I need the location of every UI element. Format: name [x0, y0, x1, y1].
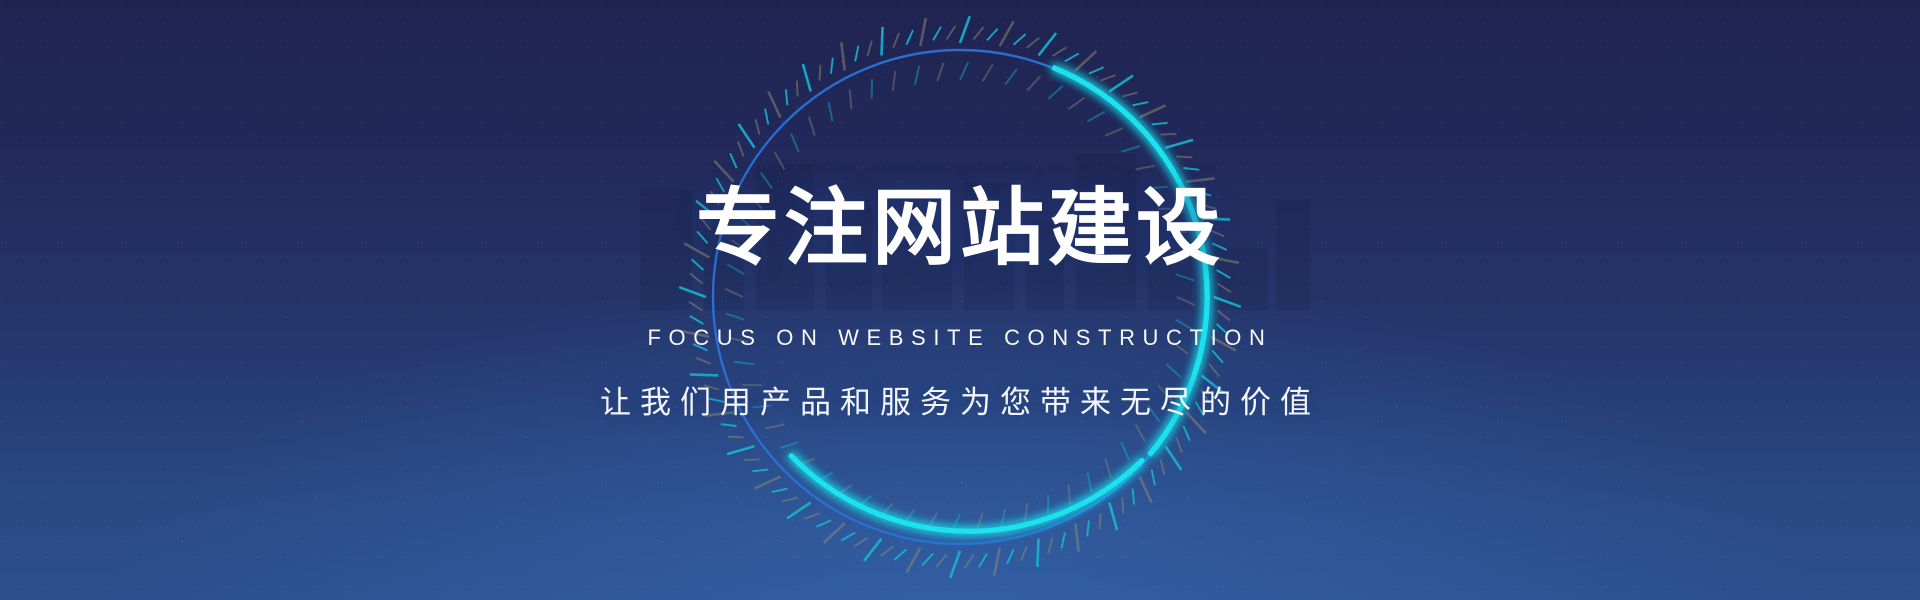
radial-tick-inner — [850, 90, 852, 110]
radial-tick — [1133, 489, 1135, 505]
hero-banner: 专注网站建设 FOCUS ON WEBSITE CONSTRUCTION 让我们… — [0, 0, 1920, 600]
radial-tick — [1218, 284, 1231, 293]
radial-tick — [1140, 477, 1152, 503]
radial-tick — [994, 548, 1000, 576]
radial-tick — [820, 65, 821, 81]
radial-tick-inner — [1048, 86, 1063, 99]
radial-tick-inner — [791, 134, 799, 152]
radial-tick — [960, 16, 970, 43]
radial-tick — [864, 539, 882, 561]
radial-tick — [1161, 134, 1177, 135]
radial-tick-inner — [829, 102, 833, 121]
radial-tick — [1212, 351, 1223, 363]
radial-tick — [1053, 48, 1066, 57]
radial-tick-inner — [1025, 503, 1027, 523]
radial-tick — [1166, 140, 1194, 148]
radial-tick — [841, 42, 844, 70]
radial-tick — [906, 30, 913, 44]
radial-tick — [755, 477, 781, 489]
radial-tick — [936, 555, 946, 567]
radial-tick — [855, 46, 858, 62]
radial-tick — [696, 358, 711, 364]
radial-tick — [1075, 523, 1078, 551]
radial-tick — [933, 27, 941, 41]
radial-tick — [922, 554, 933, 566]
radial-tick-inner — [1177, 297, 1195, 305]
radial-tick — [772, 489, 788, 492]
radial-tick — [727, 446, 755, 454]
radial-tick — [689, 302, 702, 311]
tech-circle-ring — [0, 0, 1920, 600]
radial-tick-inner — [1069, 485, 1071, 505]
radial-tick — [1183, 426, 1189, 441]
radial-tick — [1101, 75, 1116, 81]
tagline: 让我们用产品和服务为您带来无尽的价值 — [0, 377, 1920, 422]
radial-tick — [881, 546, 894, 556]
radial-tick — [979, 554, 987, 568]
radial-tick — [1166, 446, 1182, 470]
radial-tick — [1214, 297, 1241, 307]
radial-tick — [787, 503, 811, 519]
radial-tick — [744, 459, 760, 460]
radial-tick — [920, 18, 926, 46]
radial-tick — [841, 533, 855, 541]
radial-tick — [868, 41, 872, 56]
radial-tick-inner — [1005, 69, 1017, 85]
radial-tick — [947, 26, 956, 39]
radial-tick-inner — [1136, 166, 1155, 170]
radial-tick — [1152, 123, 1168, 125]
radial-tick-inner — [809, 117, 815, 136]
radial-tick-inner — [775, 152, 785, 169]
radial-tick — [690, 374, 719, 375]
radial-tick — [690, 316, 704, 324]
radial-tick — [782, 498, 797, 502]
radial-tick-inner — [1069, 98, 1085, 109]
radial-tick-inner — [1121, 442, 1129, 460]
radial-tick — [1048, 538, 1052, 553]
radial-tick — [1089, 67, 1104, 73]
radial-tick — [1122, 498, 1123, 514]
radial-tick — [1065, 53, 1079, 61]
radial-tick — [974, 27, 984, 39]
radial-tick-inner — [915, 66, 919, 85]
radial-tick-inner — [765, 425, 784, 429]
radial-tick — [831, 58, 833, 74]
radial-tick — [1021, 546, 1027, 561]
radial-tick — [1039, 33, 1057, 55]
radial-tick — [1100, 513, 1101, 529]
radial-tick — [965, 555, 974, 568]
radial-tick — [786, 89, 788, 105]
radial-tick — [1122, 93, 1137, 97]
page-title: 专注网站建设 — [0, 186, 1920, 270]
radial-tick — [1176, 157, 1192, 158]
radial-tick-inner — [1105, 458, 1111, 477]
radial-tick — [1133, 102, 1149, 105]
cyan-arc-bottom — [791, 456, 1142, 531]
radial-tick — [906, 548, 920, 573]
english-subtitle: FOCUS ON WEBSITE CONSTRUCTION — [0, 325, 1920, 351]
radial-tick-inner — [960, 62, 968, 80]
radial-tick-inner — [1001, 509, 1005, 528]
radial-tick-inner — [983, 64, 993, 81]
radial-tick — [882, 27, 883, 56]
radial-tick — [721, 424, 737, 426]
radial-tick — [1007, 549, 1014, 564]
radial-tick — [894, 549, 906, 560]
radial-tick — [730, 153, 736, 168]
radial-tick-inner — [780, 442, 799, 448]
radial-tick — [797, 81, 798, 97]
radial-tick — [1037, 539, 1038, 568]
radial-tick — [1183, 168, 1199, 170]
radial-tick — [1014, 34, 1026, 45]
radial-tick — [803, 64, 811, 92]
radial-tick — [1027, 38, 1040, 48]
radial-tick — [738, 142, 744, 157]
radial-tick — [987, 29, 998, 41]
radial-tick-inner — [734, 362, 754, 364]
radial-tick — [739, 124, 755, 148]
radial-tick — [893, 33, 899, 48]
radial-tick — [1218, 311, 1230, 321]
radial-tick-inner — [1176, 274, 1195, 280]
radial-tick-inner — [1027, 76, 1040, 90]
radial-tick — [1176, 438, 1182, 453]
radial-tick-marks — [679, 16, 1241, 578]
radial-tick-inner — [1136, 425, 1146, 442]
radial-tick-inner — [1166, 364, 1180, 377]
radial-tick-inner — [937, 63, 943, 82]
radial-tick — [816, 520, 831, 526]
radial-tick — [950, 551, 960, 578]
radial-tick-inner — [1088, 473, 1092, 492]
radial-tick — [1109, 76, 1133, 92]
radial-tick — [768, 92, 780, 118]
radial-tick — [1140, 105, 1166, 117]
radial-tick-inner — [725, 289, 743, 297]
radial-tick — [752, 470, 768, 472]
radial-tick — [1209, 364, 1219, 377]
radial-tick — [728, 437, 744, 438]
radial-tick — [1109, 503, 1117, 531]
radial-tick — [756, 119, 760, 134]
radial-tick — [1062, 533, 1065, 549]
radial-tick — [765, 109, 768, 125]
radial-tick — [1087, 520, 1089, 536]
radial-tick — [1161, 459, 1165, 474]
radial-tick-inner — [1105, 128, 1123, 136]
radial-tick — [1152, 470, 1155, 486]
radial-tick — [805, 513, 820, 519]
radial-tick — [854, 538, 867, 547]
radial-tick-inner — [726, 313, 745, 319]
radial-tick — [1000, 21, 1014, 46]
radial-tick-inner — [1121, 146, 1140, 152]
radial-tick-inner — [893, 71, 895, 91]
radial-tick-inner — [1088, 112, 1105, 122]
radial-tick — [679, 287, 706, 297]
